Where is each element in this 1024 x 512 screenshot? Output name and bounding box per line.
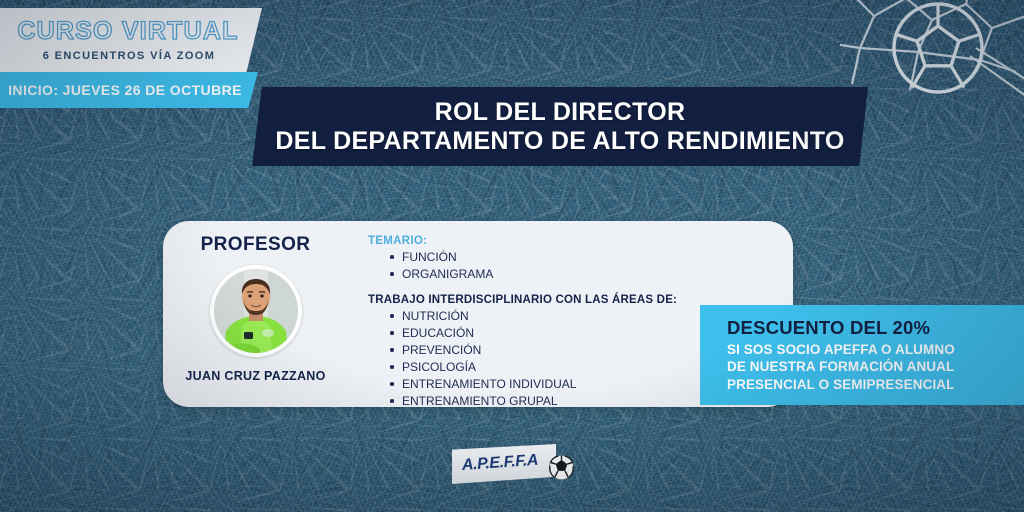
professor-panel: PROFESOR [163, 221, 348, 407]
discount-headline: DESCUENTO DEL 20% [727, 317, 1024, 339]
syllabus-list: FUNCIÓN ORGANIGRAMA [374, 249, 793, 283]
poster-canvas: CURSO VIRTUAL 6 ENCUENTROS VÍA ZOOM INIC… [0, 0, 1024, 512]
soccer-ball-icon [548, 454, 575, 481]
syllabus-heading: TEMARIO: [368, 235, 793, 247]
start-date-banner: INICIO: JUEVES 26 DE OCTUBRE [0, 72, 258, 108]
professor-name: JUAN CRUZ PAZZANO [185, 369, 325, 383]
avatar [210, 265, 302, 357]
main-title-banner: ROL DEL DIRECTOR DEL DEPARTAMENTO DE ALT… [252, 87, 868, 166]
start-date-label: INICIO: JUEVES 26 DE OCTUBRE [8, 82, 242, 98]
list-item: ORGANIGRAMA [390, 266, 793, 283]
discount-line-2: DE NUESTRA FORMACIÓN ANUAL [727, 358, 1024, 376]
title-line-2: DEL DEPARTAMENTO DE ALTO RENDIMIENTO [275, 127, 844, 156]
apeffa-logo: A.P.E.F.F.A [452, 440, 587, 490]
sessions-label: 6 ENCUENTROS VÍA ZOOM [43, 50, 216, 62]
professor-portrait-icon [214, 269, 298, 353]
professor-heading: PROFESOR [201, 234, 311, 256]
title-line-1: ROL DEL DIRECTOR [435, 98, 686, 127]
discount-banner: DESCUENTO DEL 20% SI SOS SOCIO APEFFA O … [700, 305, 1024, 405]
professor-photo [214, 269, 298, 353]
spacer [368, 283, 793, 294]
discount-line-3: PRESENCIAL O SEMIPRESENCIAL [727, 376, 1024, 394]
course-type-label: CURSO VIRTUAL [17, 19, 238, 44]
list-item: FUNCIÓN [390, 249, 793, 266]
course-type-banner: CURSO VIRTUAL 6 ENCUENTROS VÍA ZOOM [0, 8, 262, 72]
discount-line-1: SI SOS SOCIO APEFFA O ALUMNO [727, 341, 1024, 359]
content-card: PROFESOR [163, 221, 793, 407]
soccer-ball-in-net-icon [840, 0, 1024, 126]
